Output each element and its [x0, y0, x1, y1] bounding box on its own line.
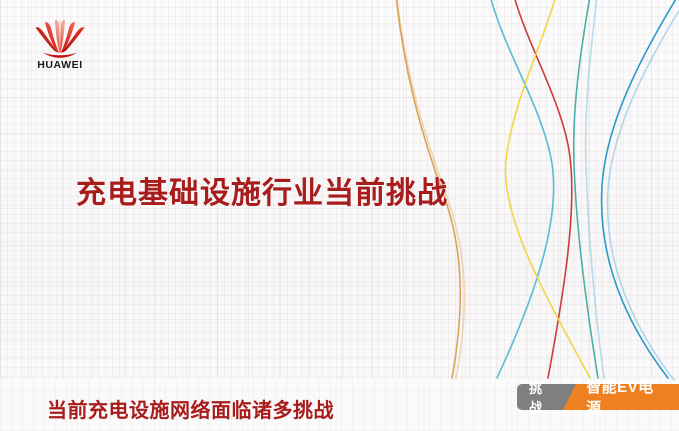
ribbon-blue-2 [608, 4, 679, 380]
page-title: 充电基础设施行业当前挑战 [76, 168, 448, 212]
huawei-petals [36, 20, 85, 58]
huawei-wordmark: HUAWEI [37, 59, 83, 71]
decorative-ribbon-artwork [0, 0, 679, 431]
ribbon-blue [602, 0, 679, 378]
ribbon-teal [574, 0, 598, 378]
badge-group: 挑战 智能EV电源 [517, 384, 679, 410]
ribbon-yellow [505, 0, 590, 378]
presentation-slide: HUAWEI 充电基础设施行业当前挑战 当前充电设施网络面临诸多挑战 挑战 智能… [0, 0, 679, 431]
badge-product: 智能EV电源 [576, 384, 679, 410]
badge-challenge: 挑战 [517, 384, 566, 410]
ribbon-lightblue [586, 0, 604, 378]
background-texture [0, 0, 679, 431]
huawei-logo: HUAWEI [25, 12, 95, 72]
ribbon-red [514, 0, 572, 378]
ribbon-cyan [490, 0, 554, 378]
bottom-caption: 当前充电设施网络面临诸多挑战 [47, 394, 334, 423]
